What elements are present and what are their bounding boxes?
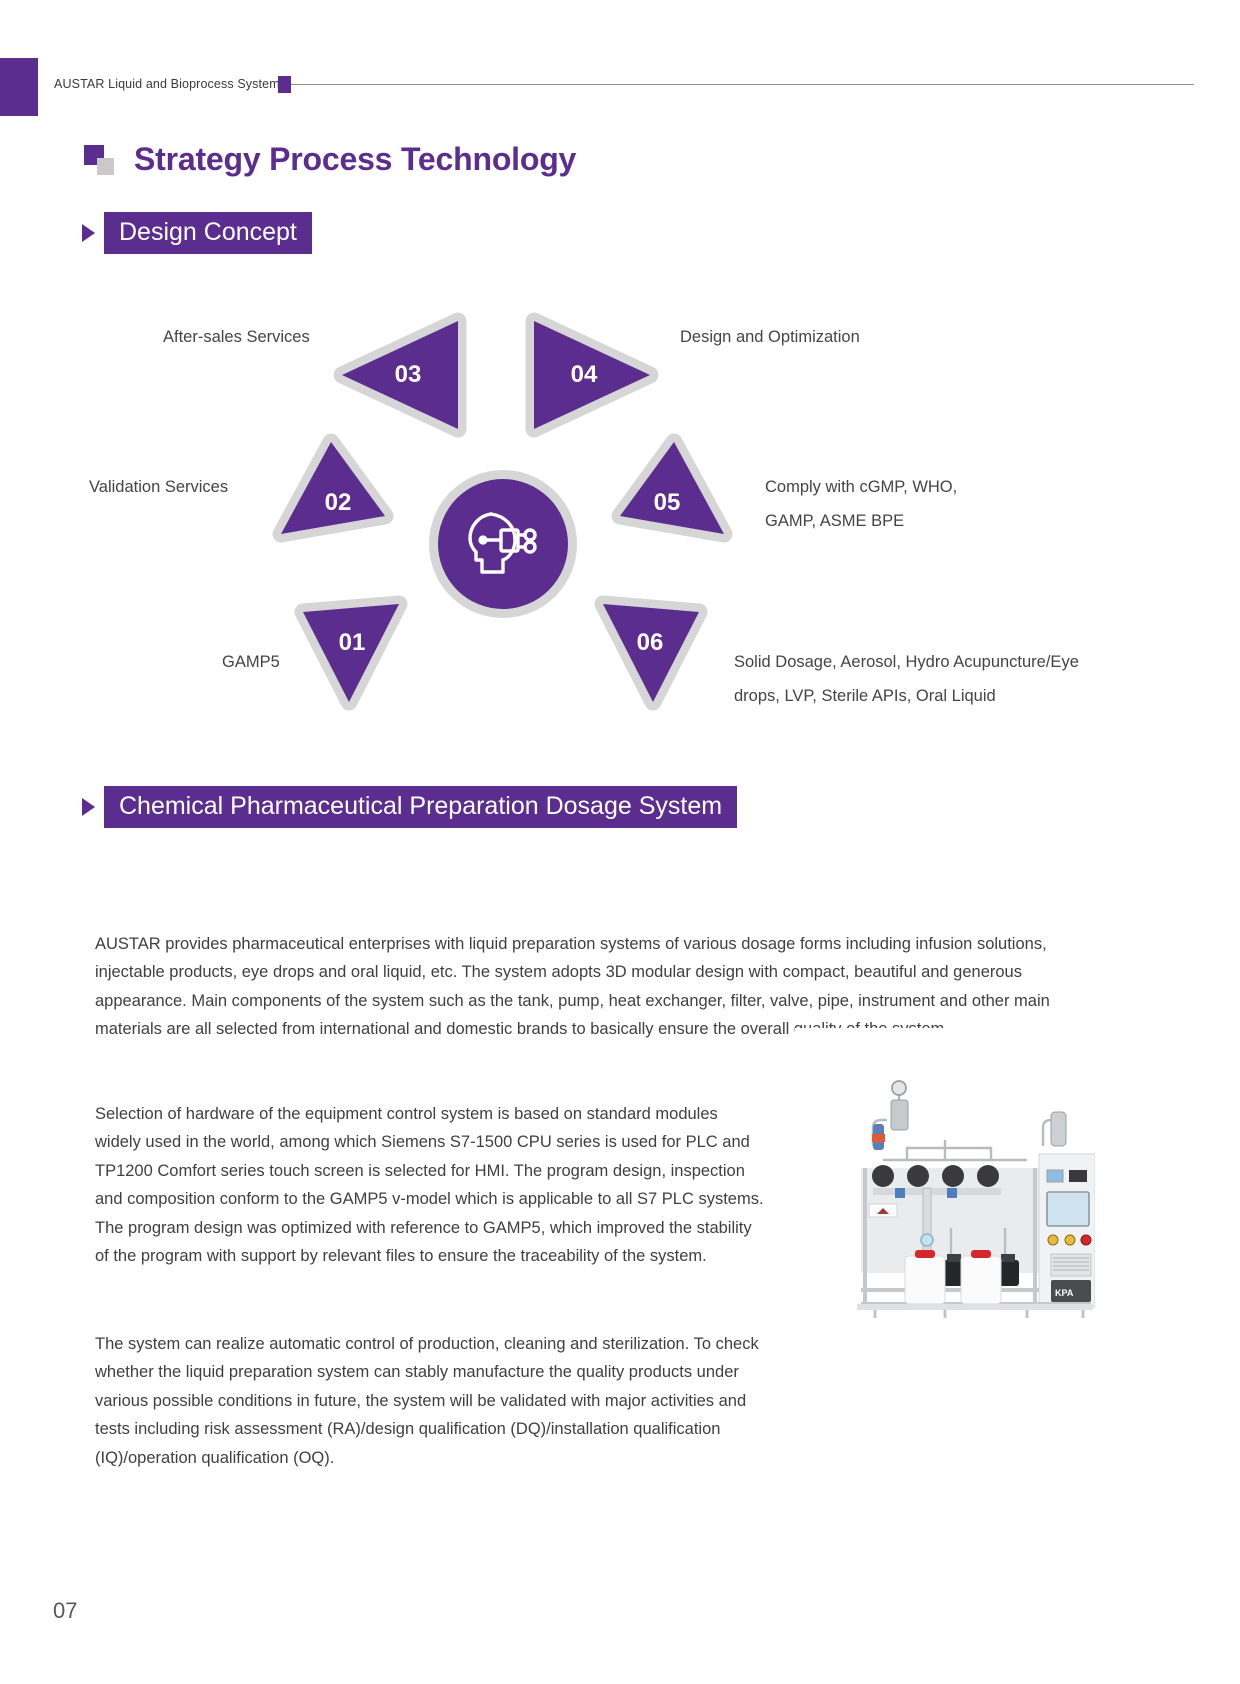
- diagram-label-validation: Validation Services: [89, 473, 228, 501]
- section-heading-chemical-system: Chemical Pharmaceutical Preparation Dosa…: [82, 786, 737, 828]
- diagram-label-comply-line2: GAMP, ASME BPE: [765, 507, 904, 535]
- diagram-label-design-optimization: Design and Optimization: [680, 323, 860, 351]
- diagram-label-comply-line1: Comply with cGMP, WHO,: [765, 473, 957, 501]
- diagram-label-dosage-line1: Solid Dosage, Aerosol, Hydro Acupuncture…: [734, 648, 1079, 676]
- diagram-node-04[interactable]: 04: [522, 315, 662, 435]
- product-photo: KPA: [795, 1028, 1095, 1318]
- title-square-icon: [84, 145, 114, 175]
- product-panel-text: KPA: [1055, 1288, 1074, 1298]
- ai-head-circuit-icon: [461, 502, 545, 586]
- design-concept-diagram: After-sales Services Design and Optimiza…: [0, 290, 1240, 740]
- paragraph-intro: AUSTAR provides pharmaceutical enterpris…: [95, 930, 1080, 1044]
- section-heading-label: Chemical Pharmaceutical Preparation Dosa…: [104, 786, 737, 828]
- diagram-node-05[interactable]: 05: [608, 430, 738, 560]
- paragraph-control-system: Selection of hardware of the equipment c…: [95, 1100, 767, 1270]
- diagram-center-hub: [429, 470, 577, 618]
- triangle-right-icon: [82, 224, 95, 242]
- diagram-label-dosage-line2: drops, LVP, Sterile APIs, Oral Liquid: [734, 682, 996, 710]
- header-square-marker: [278, 76, 291, 93]
- diagram-node-06[interactable]: 06: [585, 590, 715, 715]
- section-heading-design-concept: Design Concept: [82, 212, 312, 254]
- triangle-right-icon: [82, 798, 95, 816]
- header-brand-label: AUSTAR Liquid and Bioprocess Systems: [54, 77, 286, 91]
- diagram-node-01[interactable]: 01: [287, 590, 417, 715]
- diagram-label-gamp5: GAMP5: [222, 648, 280, 676]
- section-heading-label: Design Concept: [104, 212, 312, 254]
- page-number: 07: [53, 1598, 77, 1624]
- diagram-node-02[interactable]: 02: [267, 430, 397, 560]
- page-title-text: Strategy Process Technology: [134, 141, 576, 178]
- paragraph-validation: The system can realize automatic control…: [95, 1330, 767, 1472]
- page-title: Strategy Process Technology: [84, 141, 576, 178]
- header-accent-block: [0, 58, 38, 116]
- header-rule: [291, 84, 1194, 85]
- diagram-label-after-sales: After-sales Services: [163, 323, 310, 351]
- diagram-node-03[interactable]: 03: [330, 315, 470, 435]
